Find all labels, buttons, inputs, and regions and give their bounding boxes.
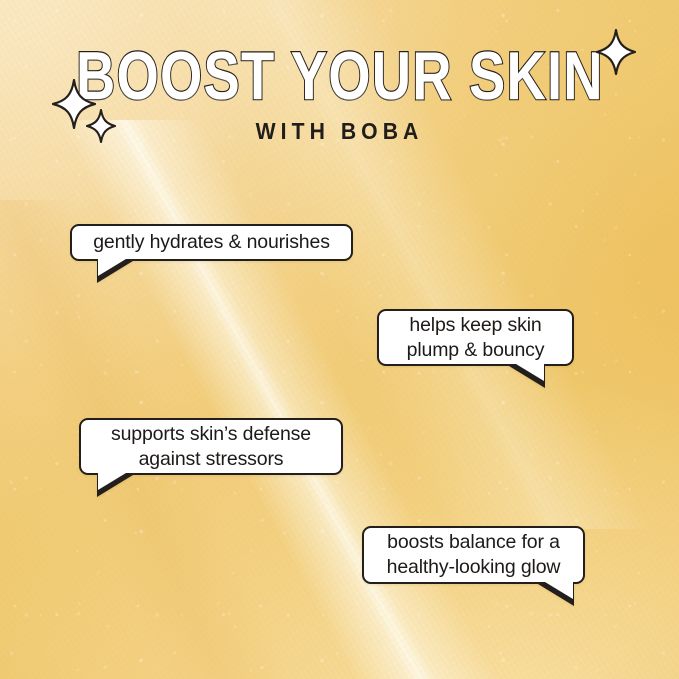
page-title: BOOST YOUR SKIN xyxy=(76,44,604,108)
benefit-bubble-glow: boosts balance for a healthy-looking glo… xyxy=(362,526,585,584)
bubble-tail-fill xyxy=(516,364,544,381)
benefit-bubble-text: gently hydrates & nourishes xyxy=(93,230,330,255)
benefit-bubble-hydrates: gently hydrates & nourishes xyxy=(70,224,353,261)
promo-poster: BOOST YOUR SKIN WITH BOBA gently hydrate… xyxy=(0,0,679,679)
sparkle-star-icon xyxy=(596,29,636,75)
bubble-tail-fill xyxy=(98,259,126,276)
sparkle-star-icon xyxy=(86,109,116,143)
bubble-tail-fill xyxy=(98,473,126,490)
page-subtitle: WITH BOBA xyxy=(27,119,652,143)
benefit-bubble-plump: helps keep skin plump & bouncy xyxy=(377,309,574,366)
bubble-tail-fill xyxy=(545,582,573,599)
sparkle-top-right xyxy=(596,29,636,75)
sparkle-small-left xyxy=(86,109,116,143)
benefit-bubble-text: boosts balance for a healthy-looking glo… xyxy=(387,530,561,580)
headline-container: BOOST YOUR SKIN xyxy=(0,44,679,108)
benefit-bubble-text: supports skin’s defense against stressor… xyxy=(111,422,311,472)
benefit-bubble-defense: supports skin’s defense against stressor… xyxy=(79,418,343,475)
benefit-bubble-text: helps keep skin plump & bouncy xyxy=(407,313,545,363)
